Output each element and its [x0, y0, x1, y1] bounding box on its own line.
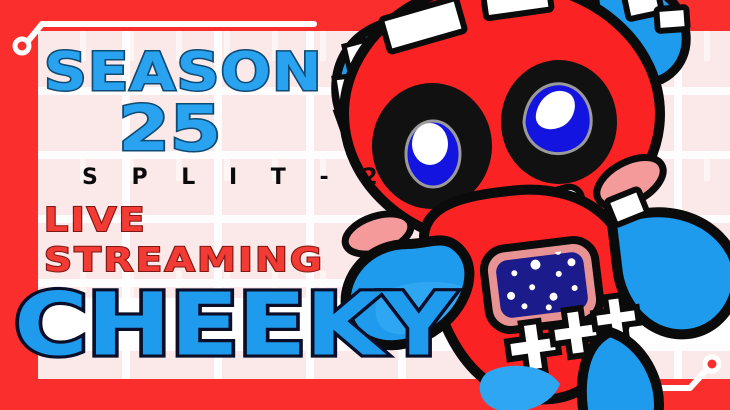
thumbnail-canvas: SEASON 25 S P L I T - 2 LIVE STREAMING C…	[0, 0, 730, 410]
split-label: S P L I T - 2	[82, 167, 391, 189]
streaming-label: STREAMING	[44, 243, 324, 276]
season-number: 25	[118, 98, 222, 160]
channel-name-title: CHEEKY	[14, 283, 454, 369]
live-label: LIVE	[44, 203, 147, 236]
title-text-block: SEASON 25 S P L I T - 2 LIVE STREAMING C…	[0, 0, 520, 410]
